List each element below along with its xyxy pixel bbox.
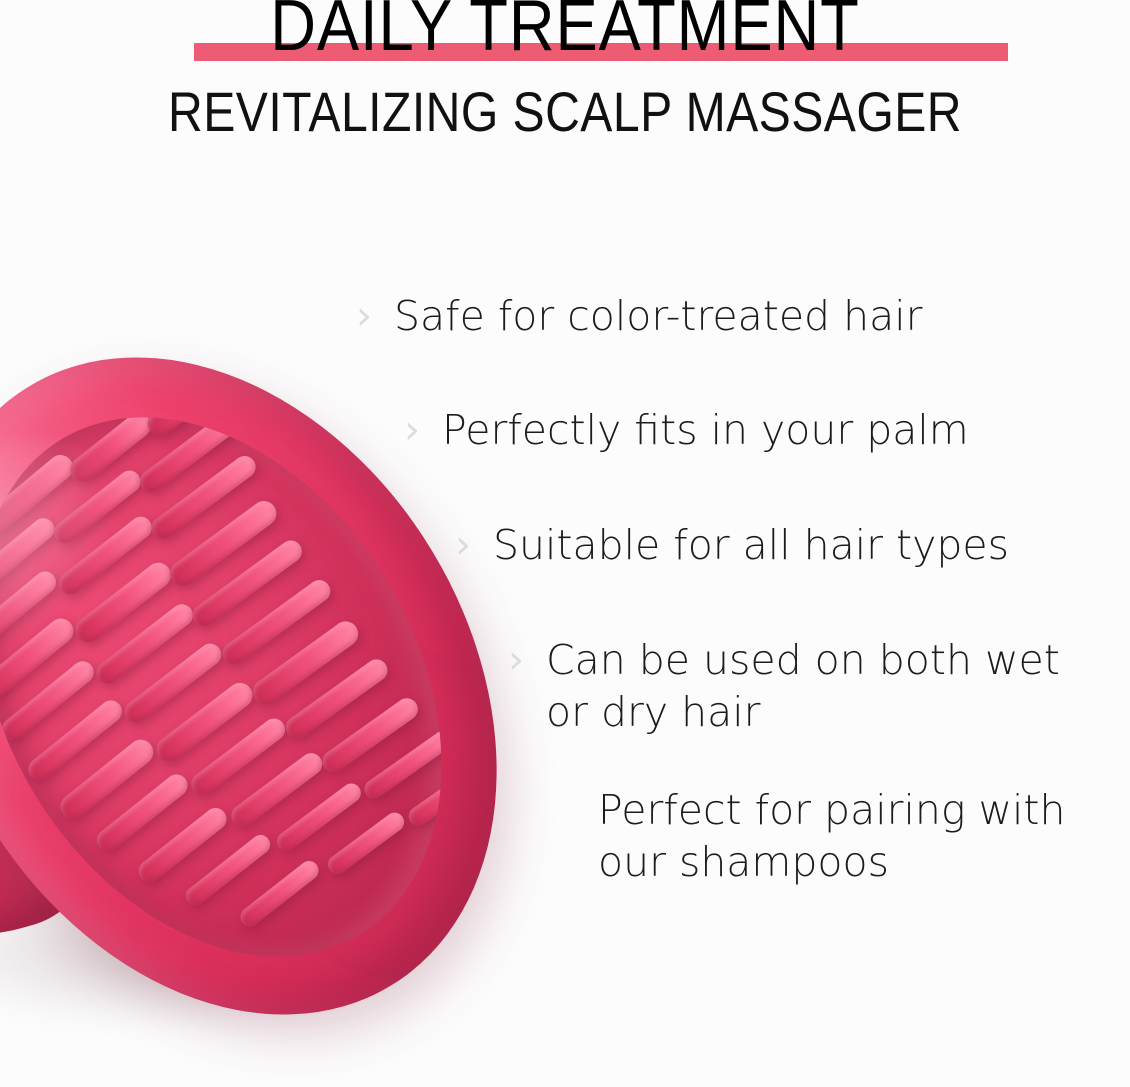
chevron-right-icon: ›: [455, 519, 471, 571]
feature-item-safe-color-treated: › Safe for color-treated hair: [356, 290, 922, 342]
feature-item-all-hair-types: › Suitable for all hair types: [455, 519, 1009, 571]
feature-label: Suitable for all hair types: [493, 519, 1009, 571]
chevron-right-icon: ›: [404, 404, 420, 456]
feature-item-wet-or-dry: › Can be used on both wet or dry hair: [508, 634, 1060, 738]
chevron-right-icon: ›: [508, 634, 524, 686]
page-title: DAILY TREATMENT: [68, 0, 1062, 64]
header: DAILY TREATMENT REVITALIZING SCALP MASSA…: [0, 0, 1130, 160]
chevron-right-icon: ›: [356, 290, 372, 342]
feature-item-fits-palm: › Perfectly fits in your palm: [404, 404, 969, 456]
feature-list: › Safe for color-treated hair › Perfectl…: [0, 282, 1130, 902]
feature-item-pair-with-shampoo: › Perfect for pairing with our shampoos: [560, 784, 1065, 888]
feature-label: Perfectly fits in your palm: [442, 404, 969, 456]
feature-label: Can be used on both wet or dry hair: [546, 634, 1060, 738]
feature-label: Safe for color-treated hair: [394, 290, 922, 342]
feature-label: Perfect for pairing with our shampoos: [598, 784, 1065, 888]
product-marketing-canvas: DAILY TREATMENT REVITALIZING SCALP MASSA…: [0, 0, 1130, 1087]
title-block: DAILY TREATMENT: [0, 0, 1130, 74]
page-subtitle: REVITALIZING SCALP MASSAGER: [79, 82, 1051, 142]
